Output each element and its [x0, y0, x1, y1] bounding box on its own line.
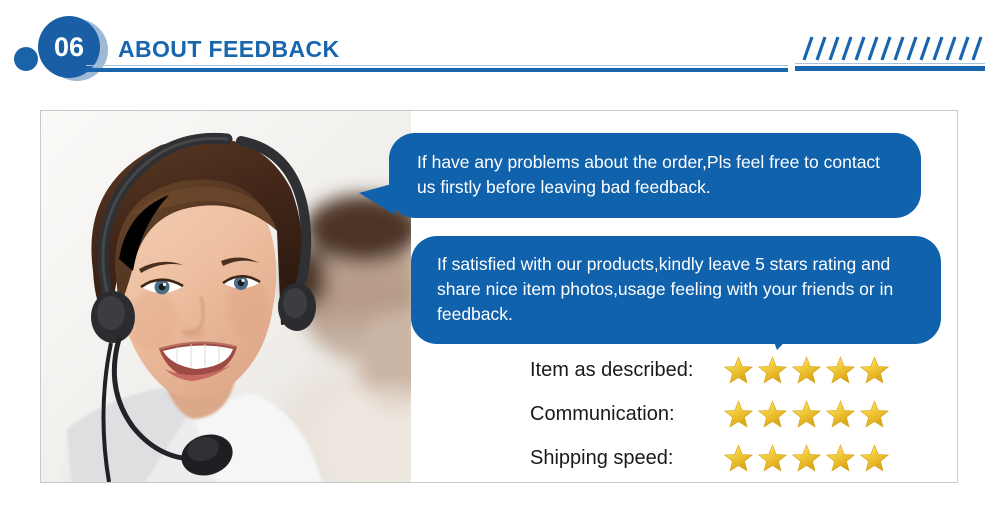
bubble-five-stars: If satisfied with our products,kindly le…	[411, 236, 941, 344]
rating-label: Communication:	[530, 403, 723, 426]
slash-rule	[795, 66, 985, 71]
star-icon	[757, 399, 788, 430]
star-icon	[859, 399, 890, 430]
page-header: 06 ABOUT FEEDBACK	[0, 0, 1000, 95]
page-title: ABOUT FEEDBACK	[118, 36, 340, 63]
feedback-panel: If have any problems about the order,Pls…	[40, 110, 958, 483]
star-icon	[791, 355, 822, 386]
bubble-order-problem: If have any problems about the order,Pls…	[389, 133, 921, 218]
rating-label: Shipping speed:	[530, 447, 723, 470]
ratings-list: Item as described: Communication: Shippi…	[530, 348, 950, 480]
star-icon	[723, 355, 754, 386]
star-icon	[757, 355, 788, 386]
star-icon	[859, 443, 890, 474]
bubble-order-problem-text: If have any problems about the order,Pls…	[417, 150, 895, 200]
rating-row-communication: Communication:	[530, 392, 950, 436]
agent-photo	[41, 111, 411, 482]
star-rating-shipping-speed	[723, 443, 890, 474]
star-icon	[825, 443, 856, 474]
star-icon	[757, 443, 788, 474]
rating-label: Item as described:	[530, 359, 723, 382]
title-rule-highlight	[86, 65, 788, 66]
star-icon	[791, 399, 822, 430]
star-icon	[723, 399, 754, 430]
star-rating-item-as-described	[723, 355, 890, 386]
decorative-dot-icon	[14, 47, 38, 71]
rating-row-shipping-speed: Shipping speed:	[530, 436, 950, 480]
star-icon	[723, 443, 754, 474]
section-number-label: 06	[54, 34, 84, 61]
diagonal-stripes-icon	[800, 33, 985, 63]
star-icon	[791, 443, 822, 474]
bubble-five-stars-text: If satisfied with our products,kindly le…	[437, 252, 917, 327]
rating-row-item-as-described: Item as described:	[530, 348, 950, 392]
star-icon	[825, 355, 856, 386]
star-icon	[825, 399, 856, 430]
slash-rule-highlight	[795, 63, 985, 64]
star-rating-communication	[723, 399, 890, 430]
title-rule	[86, 68, 788, 72]
star-icon	[859, 355, 890, 386]
